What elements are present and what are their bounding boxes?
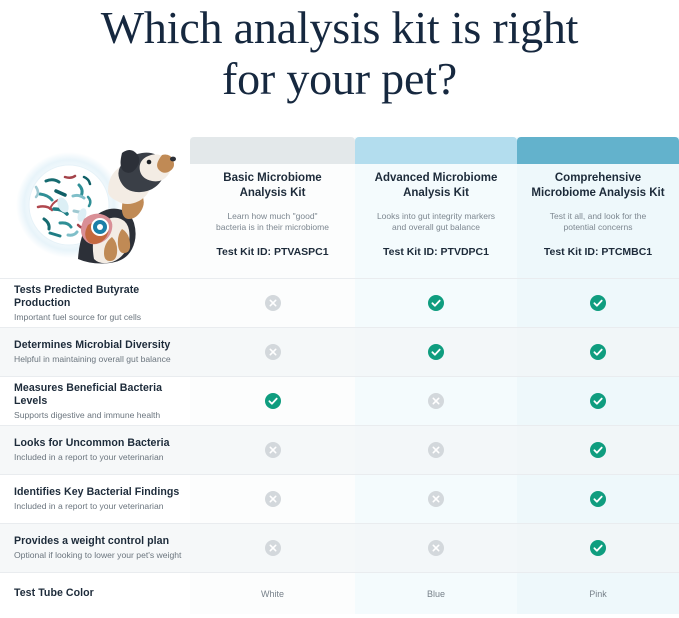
test-tube-color-label: Test Tube Color [0, 587, 190, 600]
feature-subtitle: Important fuel source for gut cells [14, 311, 182, 323]
feature-subtitle: Included in a report to your veterinaria… [14, 451, 182, 463]
table-row: Determines Microbial DiversityHelpful in… [0, 327, 679, 376]
table-header-row: Basic Microbiome Analysis Kit Learn how … [0, 137, 679, 278]
column-band-comprehensive [517, 137, 679, 164]
kit-desc-line-1: Looks into gut integrity markers [371, 211, 501, 222]
table-row: Identifies Key Bacterial FindingsInclude… [0, 474, 679, 523]
table-row: Tests Predicted Butyrate ProductionImpor… [0, 278, 679, 327]
test-tube-color-value: Pink [589, 588, 607, 600]
feature-cell-basic [190, 279, 355, 327]
check-circle-icon [590, 491, 606, 507]
kit-name-advanced: Advanced Microbiome Analysis Kit [355, 171, 517, 201]
column-header-advanced[interactable]: Advanced Microbiome Analysis Kit Looks i… [355, 137, 517, 278]
cross-circle-icon [428, 540, 444, 556]
kit-name-line-2: Microbiome Analysis Kit [531, 186, 665, 201]
feature-cell-comprehensive [517, 524, 679, 572]
cross-circle-icon [428, 393, 444, 409]
feature-title: Identifies Key Bacterial Findings [14, 486, 182, 499]
kit-name-line-1: Comprehensive [531, 171, 665, 186]
kit-desc-basic: Learn how much "good" bacteria is in the… [190, 211, 355, 233]
feature-cell-basic [190, 328, 355, 376]
feature-cell-advanced [355, 328, 517, 376]
column-band-advanced [355, 137, 517, 164]
kit-desc-line-2: potential concerns [533, 222, 663, 233]
kit-id-basic: Test Kit ID: PTVASPC1 [190, 245, 355, 259]
feature-cell-advanced [355, 377, 517, 425]
kit-name-line-2: Analysis Kit [369, 186, 503, 201]
page-title-line-1: Which analysis kit is right [0, 2, 679, 53]
kit-desc-line-1: Test it all, and look for the [533, 211, 663, 222]
check-circle-icon [265, 393, 281, 409]
check-circle-icon [428, 295, 444, 311]
cross-circle-icon [265, 540, 281, 556]
feature-title: Provides a weight control plan [14, 535, 182, 548]
kit-desc-line-1: Learn how much "good" [206, 211, 339, 222]
cross-circle-icon [265, 295, 281, 311]
column-band-basic [190, 137, 355, 164]
kit-id-comprehensive: Test Kit ID: PTCMBC1 [517, 245, 679, 259]
feature-cell-comprehensive [517, 426, 679, 474]
feature-title: Measures Beneficial Bacteria Levels [14, 382, 182, 408]
kit-desc-line-2: bacteria is in their microbiome [206, 222, 339, 233]
column-header-comprehensive[interactable]: Comprehensive Microbiome Analysis Kit Te… [517, 137, 679, 278]
page-title: Which analysis kit is right for your pet… [0, 0, 679, 104]
dog-microbiome-illustration [16, 147, 184, 269]
test-tube-color-value: Blue [427, 588, 445, 600]
comparison-table: Basic Microbiome Analysis Kit Learn how … [0, 137, 679, 614]
feature-cell-basic [190, 475, 355, 523]
feature-subtitle: Included in a report to your veterinaria… [14, 500, 182, 512]
cross-circle-icon [428, 442, 444, 458]
kit-name-line-1: Basic Microbiome [204, 171, 341, 186]
feature-cell-advanced [355, 475, 517, 523]
kit-desc-advanced: Looks into gut integrity markers and ove… [355, 211, 517, 233]
test-tube-color-value: White [261, 588, 284, 600]
kit-name-line-1: Advanced Microbiome [369, 171, 503, 186]
feature-label: Provides a weight control planOptional i… [0, 535, 190, 561]
check-circle-icon [428, 344, 444, 360]
test-tube-color-cell-comprehensive: Pink [517, 573, 679, 614]
feature-title: Looks for Uncommon Bacteria [14, 437, 182, 450]
feature-cell-comprehensive [517, 475, 679, 523]
table-row: Looks for Uncommon BacteriaIncluded in a… [0, 425, 679, 474]
header-illustration-cell [0, 137, 190, 278]
feature-cell-basic [190, 426, 355, 474]
feature-subtitle: Optional if looking to lower your pet's … [14, 549, 182, 561]
test-tube-color-cell-basic: White [190, 573, 355, 614]
feature-cell-advanced [355, 426, 517, 474]
cross-circle-icon [265, 491, 281, 507]
kit-name-line-2: Analysis Kit [204, 186, 341, 201]
check-circle-icon [590, 344, 606, 360]
check-circle-icon [590, 442, 606, 458]
table-row: Measures Beneficial Bacteria LevelsSuppo… [0, 376, 679, 425]
check-circle-icon [590, 393, 606, 409]
column-header-basic[interactable]: Basic Microbiome Analysis Kit Learn how … [190, 137, 355, 278]
feature-label: Determines Microbial DiversityHelpful in… [0, 339, 190, 365]
feature-rows: Tests Predicted Butyrate ProductionImpor… [0, 278, 679, 614]
table-row-test-tube-color: Test Tube ColorWhiteBluePink [0, 572, 679, 614]
kit-desc-line-2: and overall gut balance [371, 222, 501, 233]
feature-title: Test Tube Color [14, 587, 182, 600]
cross-circle-icon [265, 344, 281, 360]
feature-label: Measures Beneficial Bacteria LevelsSuppo… [0, 382, 190, 421]
feature-subtitle: Helpful in maintaining overall gut balan… [14, 353, 182, 365]
feature-cell-comprehensive [517, 328, 679, 376]
feature-title: Tests Predicted Butyrate Production [14, 284, 182, 310]
kit-name-basic: Basic Microbiome Analysis Kit [190, 171, 355, 201]
feature-cell-comprehensive [517, 279, 679, 327]
cross-circle-icon [265, 442, 281, 458]
feature-subtitle: Supports digestive and immune health [14, 409, 182, 421]
page-title-line-2: for your pet? [0, 53, 679, 104]
kit-id-advanced: Test Kit ID: PTVDPC1 [355, 245, 517, 259]
feature-cell-comprehensive [517, 377, 679, 425]
feature-cell-basic [190, 377, 355, 425]
check-circle-icon [590, 295, 606, 311]
table-row: Provides a weight control planOptional i… [0, 523, 679, 572]
kit-desc-comprehensive: Test it all, and look for the potential … [517, 211, 679, 233]
comparison-page: Which analysis kit is right for your pet… [0, 0, 679, 618]
kit-name-comprehensive: Comprehensive Microbiome Analysis Kit [517, 171, 679, 201]
test-tube-color-cell-advanced: Blue [355, 573, 517, 614]
feature-title: Determines Microbial Diversity [14, 339, 182, 352]
feature-label: Looks for Uncommon BacteriaIncluded in a… [0, 437, 190, 463]
feature-label: Identifies Key Bacterial FindingsInclude… [0, 486, 190, 512]
feature-label: Tests Predicted Butyrate ProductionImpor… [0, 284, 190, 323]
cross-circle-icon [428, 491, 444, 507]
feature-cell-advanced [355, 524, 517, 572]
feature-cell-basic [190, 524, 355, 572]
check-circle-icon [590, 540, 606, 556]
feature-cell-advanced [355, 279, 517, 327]
